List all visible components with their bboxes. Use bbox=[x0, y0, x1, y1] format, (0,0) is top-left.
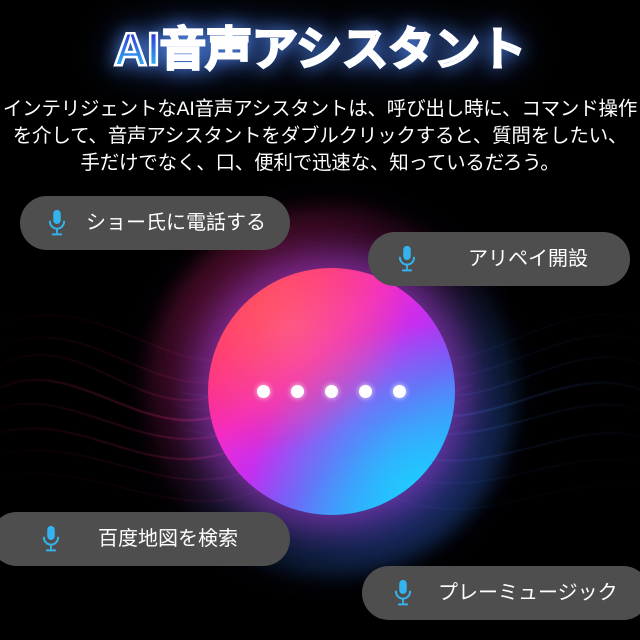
voice-assistant-promo-screen: AI音声アシスタント インテリジェントなAI音声アシスタントは、呼び出し時に、コ… bbox=[0, 0, 640, 640]
suggestion-chip-call[interactable]: ショー氏に電話する bbox=[20, 196, 290, 250]
voice-assistant-orb[interactable] bbox=[208, 268, 455, 515]
description-paragraph: インテリジェントなAI音声アシスタントは、呼び出し時に、コマンド操作 を介して、… bbox=[0, 96, 640, 177]
suggestion-chip-label: アリペイ開設 bbox=[468, 248, 588, 270]
suggestion-chip-label: ショー氏に電話する bbox=[86, 212, 266, 234]
microphone-icon bbox=[44, 208, 70, 238]
description-line-3: 手だけでなく、口、便利で迅速な、知っているだろう。 bbox=[0, 150, 640, 177]
microphone-icon bbox=[394, 244, 420, 274]
suggestion-chip-map[interactable]: 百度地図を検索 bbox=[0, 512, 290, 566]
microphone-icon bbox=[390, 578, 416, 608]
title-container: AI音声アシスタント bbox=[0, 20, 640, 78]
description-line-2: を介して、音声アシスタントをダブルクリックすると、質問をしたい、 bbox=[0, 123, 640, 150]
listening-dot bbox=[325, 385, 338, 398]
suggestion-chip-alipay[interactable]: アリペイ開設 bbox=[368, 232, 630, 286]
page-title: AI音声アシスタント bbox=[114, 20, 526, 78]
suggestion-chip-music[interactable]: プレーミュージック bbox=[362, 566, 640, 620]
suggestion-chip-label: 百度地図を検索 bbox=[98, 528, 238, 550]
microphone-icon bbox=[38, 524, 64, 554]
listening-dot bbox=[359, 385, 372, 398]
listening-dot bbox=[257, 385, 270, 398]
listening-dot bbox=[291, 385, 304, 398]
suggestion-chip-label: プレーミュージック bbox=[438, 582, 618, 604]
description-line-1: インテリジェントなAI音声アシスタントは、呼び出し時に、コマンド操作 bbox=[0, 96, 640, 123]
listening-dots bbox=[208, 268, 455, 515]
listening-dot bbox=[393, 385, 406, 398]
